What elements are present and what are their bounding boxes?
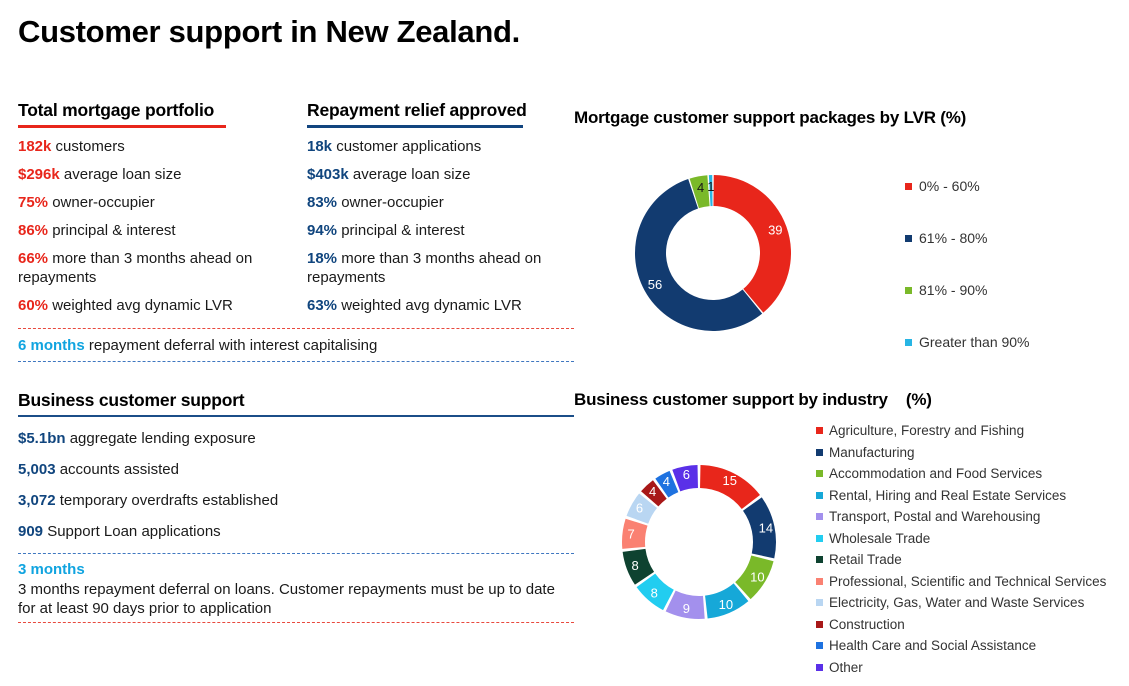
slide-canvas: Customer support in New Zealand. Total m… (0, 0, 1129, 686)
stat-value: 18% (307, 250, 337, 267)
stat-row: 94% principal & interest (307, 221, 574, 240)
donut-segment-label: 56 (648, 277, 662, 292)
donut-segment-label: 8 (651, 586, 658, 601)
legend-label: 81% - 90% (919, 282, 987, 298)
legend-label: Retail Trade (829, 552, 902, 567)
stat-row: 18k customer applications (307, 137, 574, 156)
stat-label: customer applications (336, 138, 481, 155)
stat-column-repayment-relief-approved: Repayment relief approved 18k customer a… (307, 100, 574, 324)
stat-value: 3,072 (18, 492, 56, 509)
legend-item[interactable]: Professional, Scientific and Technical S… (816, 571, 1106, 593)
legend-swatch-icon (816, 492, 823, 499)
legend-label: Construction (829, 617, 905, 632)
legend-label: Accommodation and Food Services (829, 466, 1042, 481)
column-rule (307, 125, 523, 128)
legend-item[interactable]: Transport, Postal and Warehousing (816, 506, 1106, 528)
legend-swatch-icon (905, 287, 912, 294)
legend-swatch-icon (905, 183, 912, 190)
donut-segment-label: 4 (697, 180, 704, 195)
stat-row: 60% weighted avg dynamic LVR (18, 296, 285, 315)
business-stat-row: 909 Support Loan applications (18, 522, 574, 541)
stat-value: 66% (18, 250, 48, 267)
legend-swatch-icon (816, 599, 823, 606)
legend-swatch-icon (816, 513, 823, 520)
industry-chart-legend: Agriculture, Forestry and FishingManufac… (816, 420, 1106, 678)
lvr-chart-title: Mortgage customer support packages by LV… (574, 108, 966, 128)
legend-label: Agriculture, Forestry and Fishing (829, 423, 1024, 438)
legend-swatch-icon (816, 621, 823, 628)
business-stat-row: 5,003 accounts assisted (18, 460, 574, 479)
legend-item[interactable]: Electricity, Gas, Water and Waste Servic… (816, 592, 1106, 614)
business-heading: Business customer support (18, 390, 574, 411)
legend-item[interactable]: Rental, Hiring and Real Estate Services (816, 485, 1106, 507)
legend-label: Manufacturing (829, 445, 915, 460)
divider-dashed-red (18, 328, 574, 329)
donut-segment-label: 39 (768, 223, 782, 238)
legend-item[interactable]: 61% - 80% (905, 212, 1030, 264)
legend-swatch-icon (905, 339, 912, 346)
legend-item[interactable]: 0% - 60% (905, 160, 1030, 212)
stat-column-total-mortgage-portfolio: Total mortgage portfolio 182k customers … (18, 100, 285, 324)
legend-item[interactable]: Manufacturing (816, 442, 1106, 464)
stat-value: 75% (18, 194, 48, 211)
business-support-section: Business customer support $5.1bn aggrega… (18, 390, 574, 630)
stat-label: temporary overdrafts established (60, 492, 278, 509)
legend-label: 61% - 80% (919, 230, 987, 246)
stat-columns: Total mortgage portfolio 182k customers … (18, 100, 574, 324)
legend-swatch-icon (816, 642, 823, 649)
stat-row: 66% more than 3 months ahead on repaymen… (18, 249, 285, 287)
stat-value: 94% (307, 222, 337, 239)
legend-swatch-icon (816, 427, 823, 434)
stat-label: more than 3 months ahead on repayments (18, 250, 252, 286)
industry-chart-title: Business customer support by industry (%… (574, 390, 932, 410)
mortgage-stats-section: Total mortgage portfolio 182k customers … (18, 100, 574, 369)
stat-value: 63% (307, 297, 337, 314)
stat-label: owner-occupier (52, 194, 155, 211)
stat-row: 18% more than 3 months ahead on repaymen… (307, 249, 574, 287)
stat-label: owner-occupier (341, 194, 444, 211)
column-rule (18, 125, 226, 128)
divider-dashed-red (18, 622, 574, 623)
lvr-chart-legend: 0% - 60%61% - 80%81% - 90%Greater than 9… (905, 160, 1030, 368)
stat-value: 60% (18, 297, 48, 314)
stat-label: weighted avg dynamic LVR (52, 297, 233, 314)
stat-row: $403k average loan size (307, 165, 574, 184)
stat-value: $403k (307, 166, 349, 183)
donut-segment-label: 4 (663, 474, 670, 489)
legend-swatch-icon (816, 664, 823, 671)
business-callout-title: 3 months (18, 561, 574, 579)
lvr-donut-chart: 395641 (600, 140, 826, 366)
legend-label: Transport, Postal and Warehousing (829, 509, 1040, 524)
stat-value: 18k (307, 138, 332, 155)
divider-dashed-blue (18, 553, 574, 554)
donut-segment (713, 175, 791, 313)
legend-label: Electricity, Gas, Water and Waste Servic… (829, 595, 1084, 610)
stat-value: 909 (18, 523, 43, 540)
legend-label: 0% - 60% (919, 178, 980, 194)
legend-item[interactable]: 81% - 90% (905, 264, 1030, 316)
donut-segment-label: 1 (707, 179, 714, 194)
legend-swatch-icon (816, 470, 823, 477)
callout-value: 6 months (18, 337, 85, 354)
legend-item[interactable]: Other (816, 657, 1106, 679)
legend-item[interactable]: Greater than 90% (905, 316, 1030, 368)
stat-value: $5.1bn (18, 430, 66, 447)
stat-label: principal & interest (341, 222, 464, 239)
legend-label: Other (829, 660, 863, 675)
legend-label: Rental, Hiring and Real Estate Services (829, 488, 1066, 503)
stat-label: average loan size (353, 166, 471, 183)
stat-label: customers (56, 138, 125, 155)
stat-row: 63% weighted avg dynamic LVR (307, 296, 574, 315)
stat-value: $296k (18, 166, 60, 183)
stat-label: Support Loan applications (47, 523, 220, 540)
legend-swatch-icon (816, 578, 823, 585)
legend-label: Health Care and Social Assistance (829, 638, 1036, 653)
donut-segment-label: 9 (683, 601, 690, 616)
legend-swatch-icon (816, 535, 823, 542)
page-title: Customer support in New Zealand. (18, 14, 520, 50)
stat-label: more than 3 months ahead on repayments (307, 250, 541, 286)
legend-label: Wholesale Trade (829, 531, 930, 546)
stat-row: $296k average loan size (18, 165, 285, 184)
donut-segment-label: 8 (631, 558, 638, 573)
stat-label: aggregate lending exposure (70, 430, 256, 447)
stat-value: 86% (18, 222, 48, 239)
donut-segment (622, 519, 648, 549)
donut-segment-label: 10 (719, 597, 733, 612)
legend-swatch-icon (905, 235, 912, 242)
legend-label: Professional, Scientific and Technical S… (829, 574, 1106, 589)
donut-segment-label: 14 (759, 520, 773, 535)
business-rule (18, 415, 574, 417)
donut-segment-label: 6 (683, 467, 690, 482)
donut-segment-label: 7 (628, 527, 635, 542)
legend-item[interactable]: Retail Trade (816, 549, 1106, 571)
legend-item[interactable]: Health Care and Social Assistance (816, 635, 1106, 657)
industry-donut-chart: 1514101098876446 (585, 428, 813, 656)
stat-value: 5,003 (18, 461, 56, 478)
stat-label: weighted avg dynamic LVR (341, 297, 522, 314)
legend-item[interactable]: Agriculture, Forestry and Fishing (816, 420, 1106, 442)
legend-item[interactable]: Accommodation and Food Services (816, 463, 1106, 485)
divider-dashed-blue (18, 361, 574, 362)
legend-item[interactable]: Construction (816, 614, 1106, 636)
legend-label: Greater than 90% (919, 334, 1030, 350)
donut-segment-label: 15 (722, 473, 736, 488)
donut-segment-label: 6 (636, 500, 643, 515)
stat-label: principal & interest (52, 222, 175, 239)
stat-label: accounts assisted (60, 461, 179, 478)
stat-row: 75% owner-occupier (18, 193, 285, 212)
stat-row: 182k customers (18, 137, 285, 156)
business-callout-body: 3 months repayment deferral on loans. Cu… (18, 580, 574, 618)
business-stat-row: $5.1bn aggregate lending exposure (18, 429, 574, 448)
stat-value: 182k (18, 138, 51, 155)
column-heading: Total mortgage portfolio (18, 100, 285, 121)
donut-segment-label: 4 (649, 484, 656, 499)
stat-value: 83% (307, 194, 337, 211)
stat-row: 83% owner-occupier (307, 193, 574, 212)
callout-label: repayment deferral with interest capital… (89, 337, 377, 354)
stat-label: average loan size (64, 166, 182, 183)
mortgage-callout: 6 months repayment deferral with interes… (18, 336, 574, 356)
column-heading: Repayment relief approved (307, 100, 574, 121)
business-stat-row: 3,072 temporary overdrafts established (18, 491, 574, 510)
legend-swatch-icon (816, 449, 823, 456)
legend-item[interactable]: Wholesale Trade (816, 528, 1106, 550)
legend-swatch-icon (816, 556, 823, 563)
stat-row: 86% principal & interest (18, 221, 285, 240)
donut-segment-label: 10 (750, 569, 764, 584)
